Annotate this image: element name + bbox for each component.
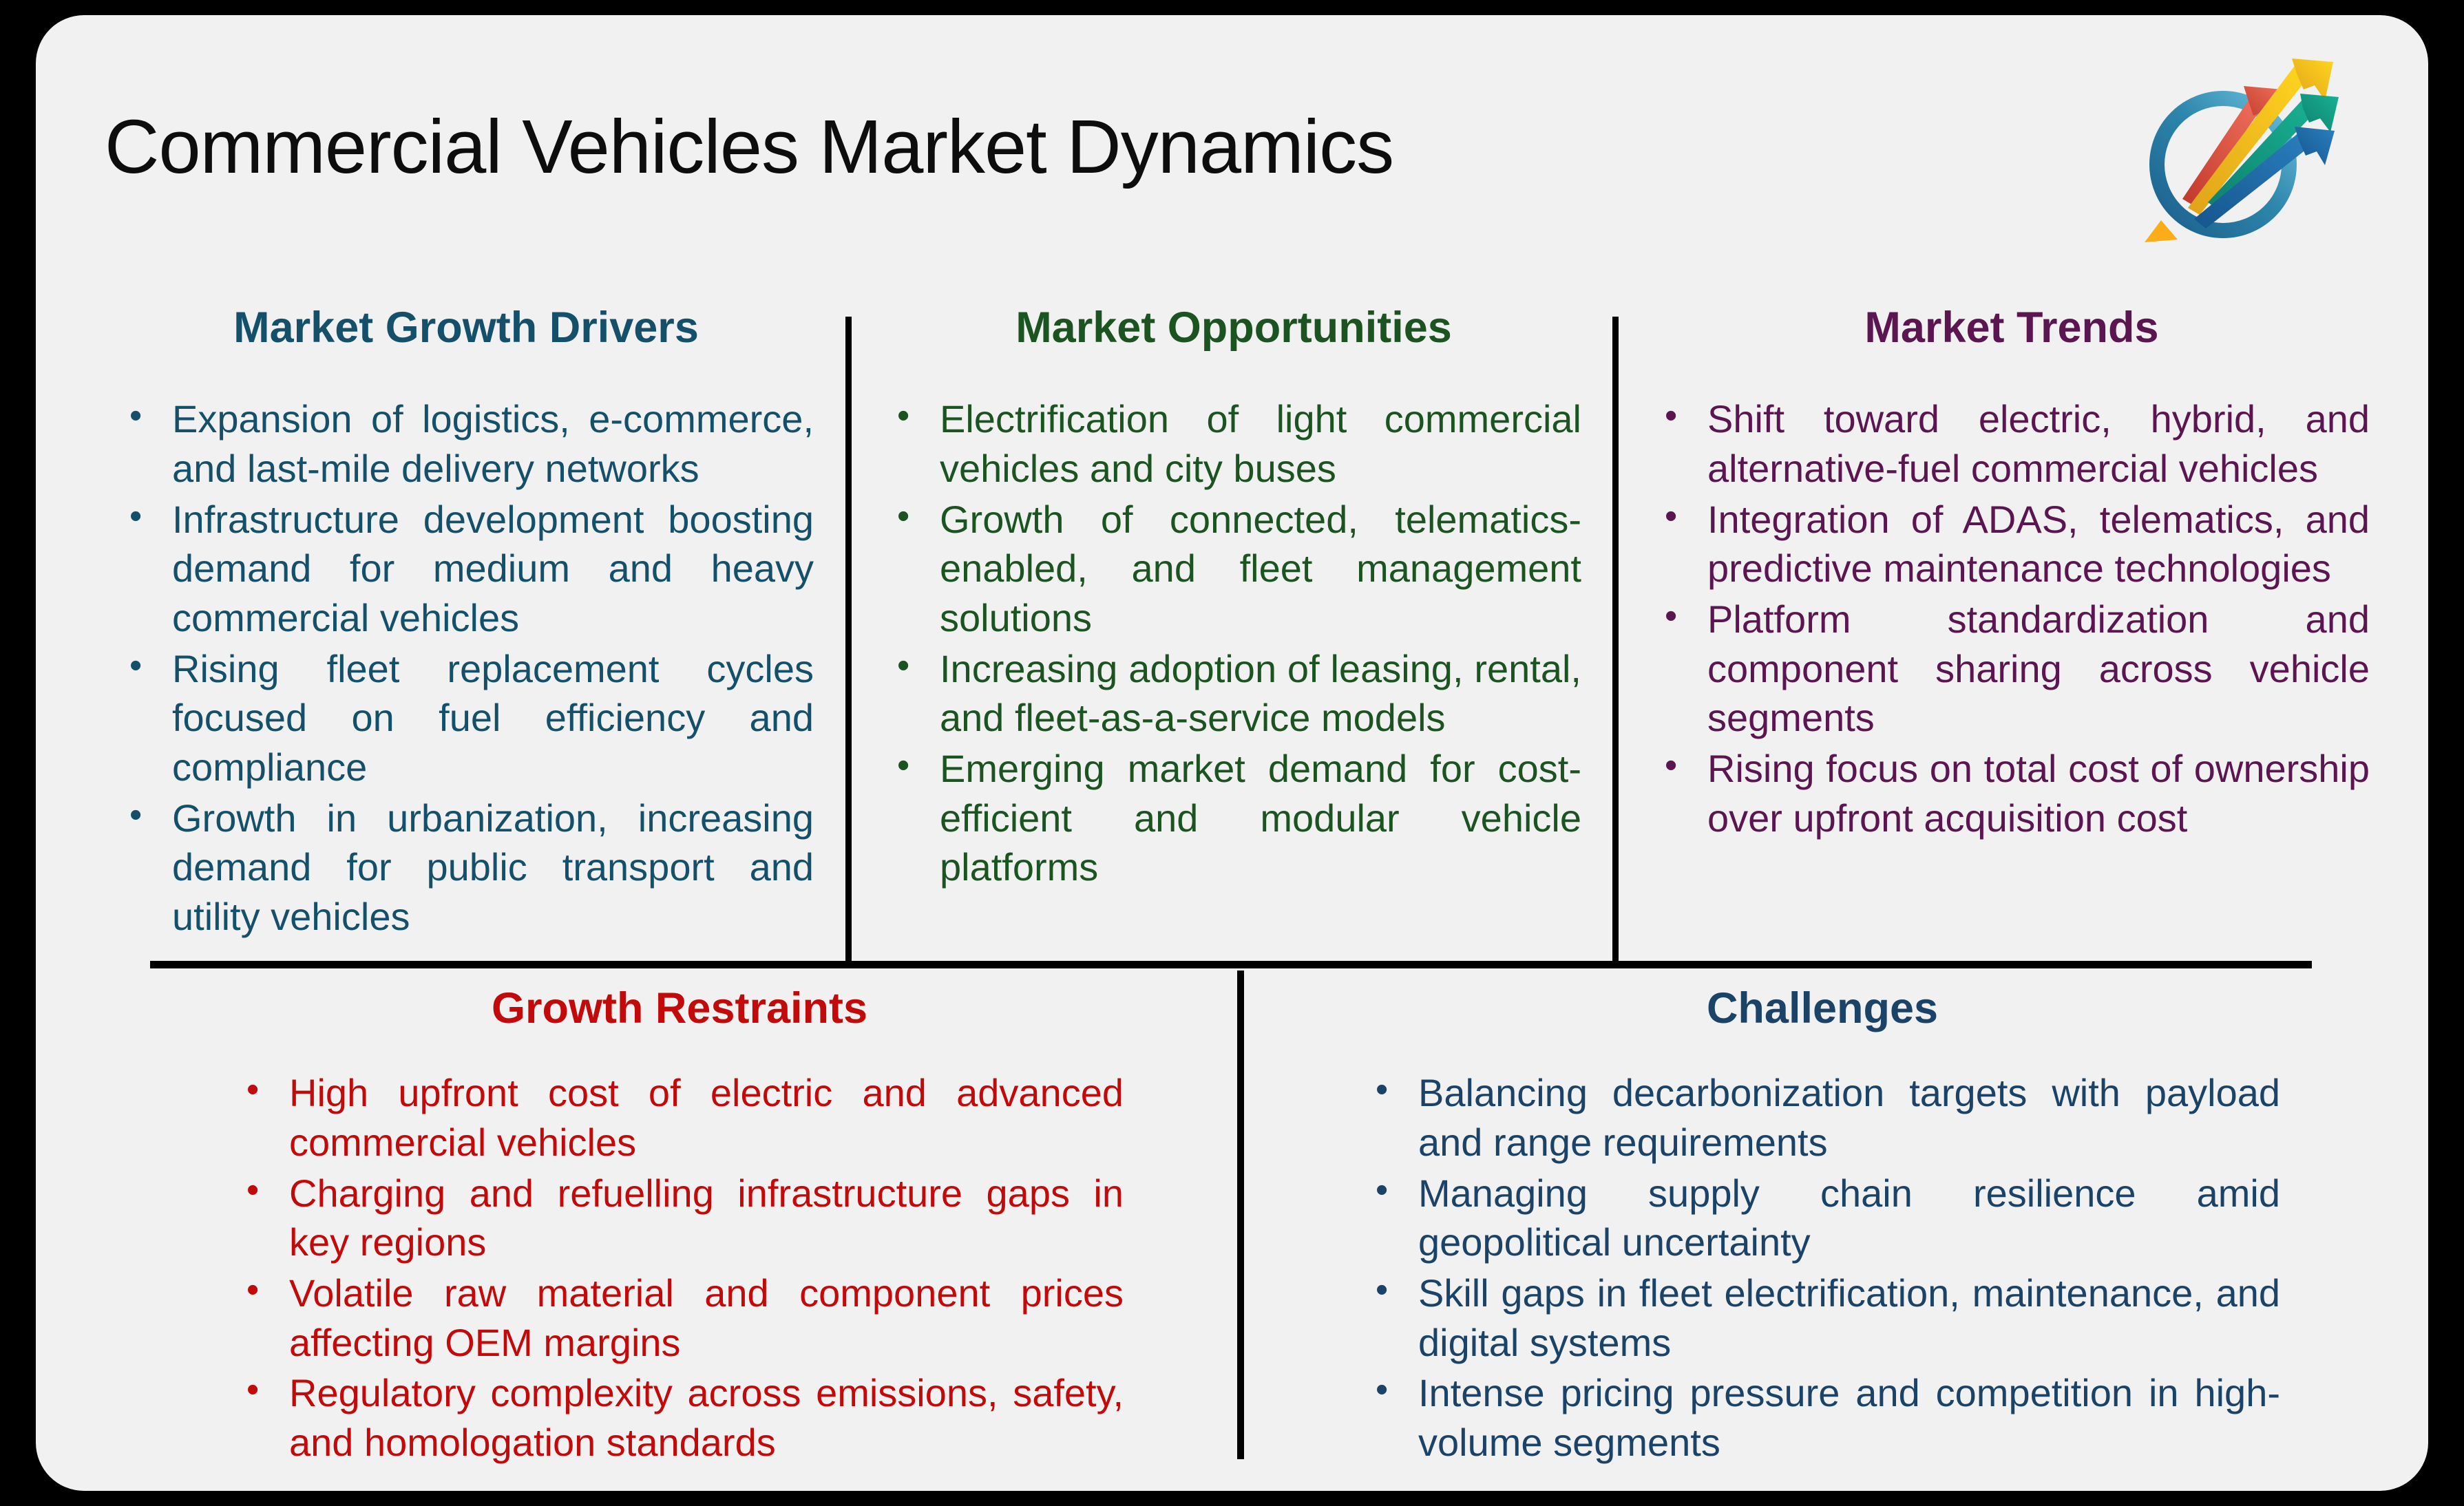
section-title-drivers: Market Growth Drivers [118, 290, 814, 352]
slide-card: Commercial Vehicles Market Dynamics [36, 15, 2428, 1491]
growth-arrows-circle-logo [2118, 30, 2346, 257]
section-market-growth-drivers: Market Growth Drivers Expansion of logis… [118, 290, 814, 962]
list-item: Intense pricing pressure and competition… [1365, 1368, 2280, 1467]
list-item: Rising fleet replacement cycles focused … [118, 644, 814, 792]
list-item: Volatile raw material and component pric… [235, 1269, 1124, 1367]
list-item: Growth of connected, telematics-enabled,… [886, 495, 1581, 643]
section-growth-restraints: Growth Restraints High upfront cost of e… [235, 968, 1124, 1469]
bullet-list-restraints: High upfront cost of electric and advanc… [235, 1068, 1124, 1467]
bullet-list-opportunities: Electrification of light commercial vehi… [886, 394, 1581, 892]
section-title-challenges: Challenges [1365, 968, 2280, 1032]
list-item: Expansion of logistics, e-commerce, and … [118, 394, 814, 493]
list-item: High upfront cost of electric and advanc… [235, 1068, 1124, 1167]
vertical-divider-2 [1612, 317, 1619, 964]
section-challenges: Challenges Balancing decarbonization tar… [1365, 968, 2280, 1469]
top-sections-row: Market Growth Drivers Expansion of logis… [36, 290, 2428, 962]
section-title-opportunities: Market Opportunities [886, 290, 1581, 352]
horizontal-divider [150, 961, 2312, 968]
section-market-opportunities: Market Opportunities Electrification of … [886, 290, 1581, 962]
page-title: Commercial Vehicles Market Dynamics [105, 103, 1393, 191]
list-item: Managing supply chain resilience amid ge… [1365, 1169, 2280, 1267]
bullet-list-challenges: Balancing decarbonization targets with p… [1365, 1068, 2280, 1467]
list-item: Increasing adoption of leasing, rental, … [886, 644, 1581, 743]
section-title-restraints: Growth Restraints [235, 968, 1124, 1032]
slide-header: Commercial Vehicles Market Dynamics [36, 15, 2428, 290]
list-item: Growth in urbanization, increasing deman… [118, 794, 814, 942]
vertical-divider-1 [845, 317, 852, 964]
list-item: Rising focus on total cost of ownership … [1654, 744, 2370, 842]
list-item: Platform standardization and component s… [1654, 595, 2370, 743]
section-market-trends: Market Trends Shift toward electric, hyb… [1654, 290, 2370, 962]
bottom-sections-row: Growth Restraints High upfront cost of e… [36, 968, 2428, 1491]
list-item: Regulatory complexity across emissions, … [235, 1368, 1124, 1467]
list-item: Skill gaps in fleet electrification, mai… [1365, 1269, 2280, 1367]
section-title-trends: Market Trends [1654, 290, 2370, 352]
list-item: Electrification of light commercial vehi… [886, 394, 1581, 493]
list-item: Integration of ADAS, telematics, and pre… [1654, 495, 2370, 593]
list-item: Emerging market demand for cost-efficien… [886, 744, 1581, 892]
bullet-list-drivers: Expansion of logistics, e-commerce, and … [118, 394, 814, 941]
list-item: Infrastructure development boosting dema… [118, 495, 814, 643]
list-item: Balancing decarbonization targets with p… [1365, 1068, 2280, 1167]
bullet-list-trends: Shift toward electric, hybrid, and alter… [1654, 394, 2370, 842]
list-item: Shift toward electric, hybrid, and alter… [1654, 394, 2370, 493]
list-item: Charging and refuelling infrastructure g… [235, 1169, 1124, 1267]
